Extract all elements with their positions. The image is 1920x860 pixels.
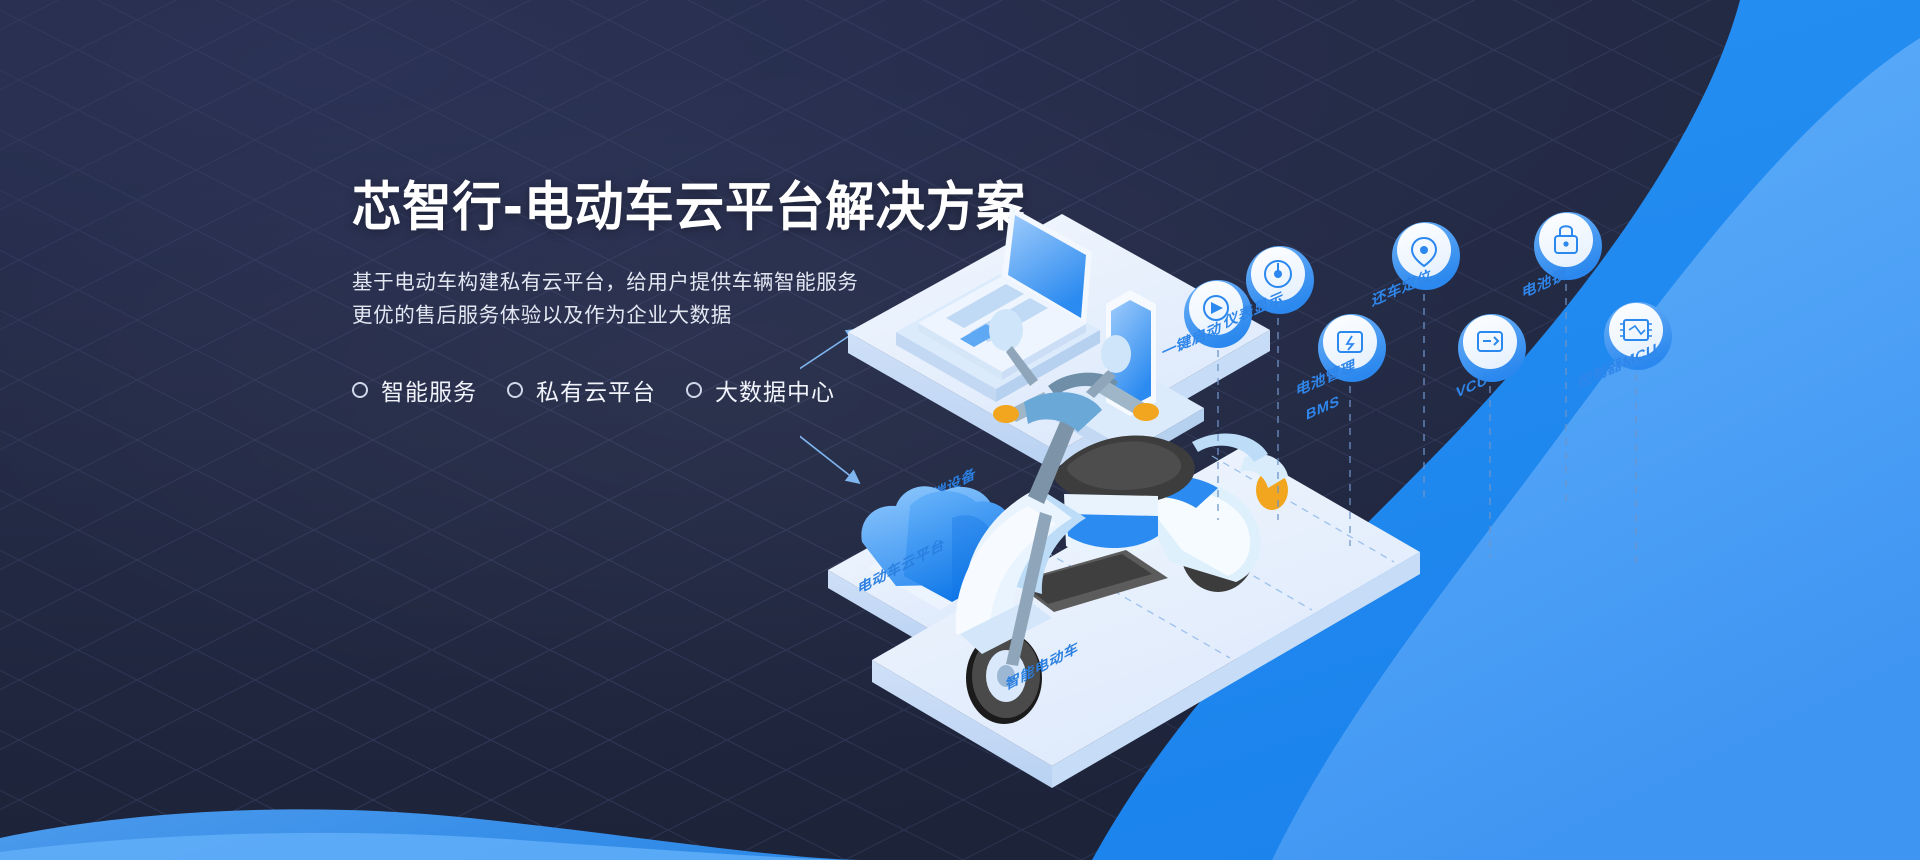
- badge-return-location[interactable]: 还车定位: [1371, 222, 1460, 310]
- badge-vcu[interactable]: VCU: [1456, 314, 1526, 402]
- handle-grip-left: [993, 405, 1019, 423]
- handle-grip-right: [1133, 403, 1159, 421]
- badge-battery-lock[interactable]: 电池锁: [1522, 212, 1602, 302]
- bullet-label: 私有云平台: [536, 373, 656, 407]
- badge-label: VCU: [1456, 371, 1488, 401]
- hero-banner: 芯智行-电动车云平台解决方案 基于电动车构建私有云平台，给用户提供车辆智能服务 …: [0, 0, 1920, 860]
- circle-outline-icon: [507, 382, 523, 398]
- badge-battery-management[interactable]: 电池管理 BMS: [1296, 314, 1386, 424]
- circle-outline-icon: [352, 382, 368, 398]
- badge-label-secondary: BMS: [1306, 393, 1339, 424]
- bullet-item-smart-service[interactable]: 智能服务: [352, 373, 477, 407]
- badge-controller-mcu[interactable]: 控制器MCU: [1578, 302, 1672, 392]
- circle-outline-icon: [686, 382, 702, 398]
- bullet-item-private-cloud[interactable]: 私有云平台: [507, 373, 656, 407]
- isometric-illustration: 终端设备 电动车云平台: [800, 190, 1920, 850]
- bullet-label: 智能服务: [381, 373, 477, 407]
